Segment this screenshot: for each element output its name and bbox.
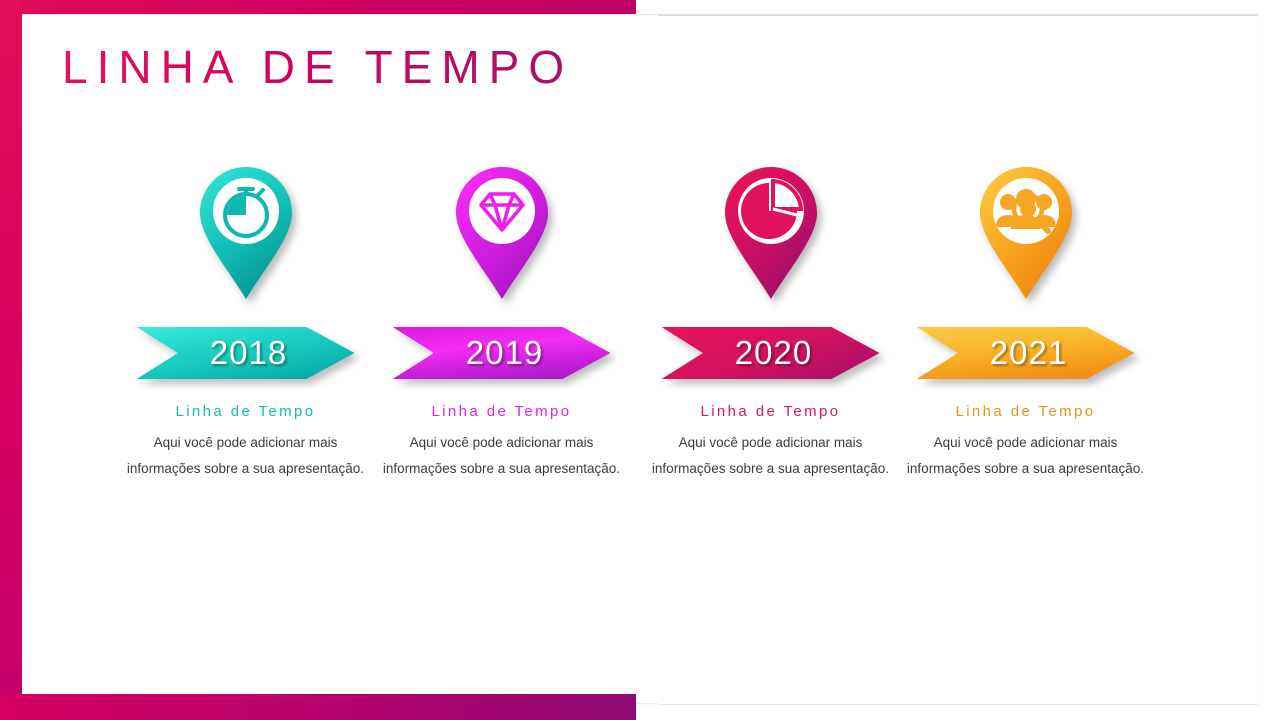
text-block: Linha de Tempo Aqui você pode adicionar … [898,403,1153,483]
pin-wrap [898,165,1153,305]
year-banner[interactable]: 2019 [393,327,611,379]
pin-wrap [374,165,629,305]
slide-canvas: LINHA DE TEMPO [0,0,1280,720]
milestone-body: Aqui você pode adicionar mais informaçõe… [126,430,365,483]
year-label: 2018 [137,327,355,379]
year-banner-wrap: 2019 [374,327,629,385]
milestone-subtitle: Linha de Tempo [651,403,890,420]
text-block: Linha de Tempo Aqui você pode adicionar … [374,403,629,483]
map-pin-shape [198,165,294,301]
year-banner-wrap: 2018 [118,327,373,385]
milestone-subtitle: Linha de Tempo [906,403,1145,420]
timeline-item-2021[interactable]: 2021 Linha de Tempo Aqui você pode adici… [898,165,1153,483]
map-pin-marker[interactable] [978,165,1074,301]
milestone-body: Aqui você pode adicionar mais informaçõe… [906,430,1145,483]
text-block: Linha de Tempo Aqui você pode adicionar … [118,403,373,483]
map-pin-shape [454,165,550,301]
map-pin-shape [978,165,1074,301]
year-banner-wrap: 2021 [898,327,1153,385]
year-label: 2021 [917,327,1135,379]
timeline-item-2018[interactable]: 2018 Linha de Tempo Aqui você pode adici… [118,165,373,483]
milestone-body: Aqui você pode adicionar mais informaçõe… [382,430,621,483]
map-pin-marker[interactable] [454,165,550,301]
year-label: 2020 [662,327,880,379]
year-banner-wrap: 2020 [643,327,898,385]
map-pin-shape [723,165,819,301]
text-block: Linha de Tempo Aqui você pode adicionar … [643,403,898,483]
timeline-item-2020[interactable]: 2020 Linha de Tempo Aqui você pode adici… [643,165,898,483]
timeline-columns: 2018 Linha de Tempo Aqui você pode adici… [0,0,1280,720]
pin-wrap [118,165,373,305]
year-label: 2019 [393,327,611,379]
pin-wrap [643,165,898,305]
milestone-subtitle: Linha de Tempo [382,403,621,420]
timeline-item-2019[interactable]: 2019 Linha de Tempo Aqui você pode adici… [374,165,629,483]
milestone-subtitle: Linha de Tempo [126,403,365,420]
map-pin-marker[interactable] [723,165,819,301]
year-banner[interactable]: 2018 [137,327,355,379]
milestone-body: Aqui você pode adicionar mais informaçõe… [651,430,890,483]
year-banner[interactable]: 2021 [917,327,1135,379]
map-pin-marker[interactable] [198,165,294,301]
year-banner[interactable]: 2020 [662,327,880,379]
